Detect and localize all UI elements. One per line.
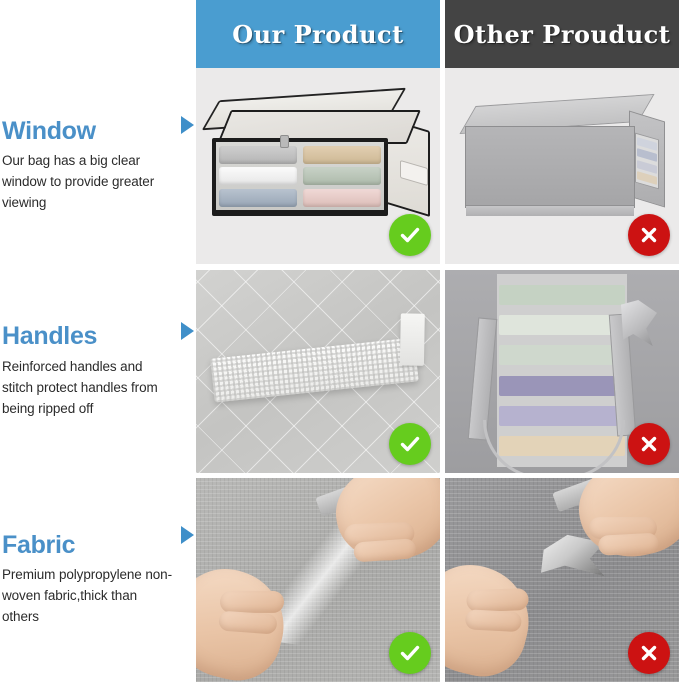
- product-comparison-infographic: Our Product Other Prouduct Window Our ba…: [0, 0, 679, 682]
- other-storage-bag: [465, 114, 661, 218]
- arrow-right-icon: [181, 116, 194, 134]
- towel-item: [219, 146, 297, 164]
- photo-our-product-handles: [196, 270, 440, 473]
- column-header-other-product: Other Prouduct: [445, 0, 679, 68]
- feature-title-window: Window: [2, 118, 188, 144]
- bag-front-panel: [465, 126, 635, 208]
- feature-title-fabric: Fabric: [2, 532, 188, 558]
- cross-badge-fabric: [628, 632, 670, 674]
- other-product-title: Other Prouduct: [454, 20, 671, 49]
- towel-stack-right: [300, 142, 384, 210]
- finger: [466, 588, 529, 612]
- feature-title-handles: Handles: [2, 323, 188, 349]
- arrow-right-icon: [181, 526, 194, 544]
- photo-our-product-fabric: [196, 478, 440, 682]
- feature-label-window: Window Our bag has a big clear window to…: [0, 68, 196, 264]
- towel-item: [499, 376, 625, 396]
- check-badge-window: [389, 214, 431, 256]
- towel-item: [637, 171, 657, 185]
- cross-badge-handles: [628, 423, 670, 465]
- finger: [218, 611, 277, 635]
- photo-other-product-handles: [445, 270, 679, 473]
- bag-bottom-seam: [466, 205, 634, 216]
- our-storage-bag: [212, 110, 422, 222]
- check-badge-handles: [389, 423, 431, 465]
- towel-item: [303, 167, 381, 185]
- photo-other-product-fabric: [445, 478, 679, 682]
- towel-stack-left: [216, 142, 300, 210]
- column-header-our-product: Our Product: [196, 0, 440, 68]
- feature-description-handles: Reinforced handles and stitch protect ha…: [2, 357, 174, 420]
- bag-small-window: [635, 133, 659, 190]
- towel-item: [303, 146, 381, 164]
- towel-item: [499, 345, 625, 365]
- cross-badge-window: [628, 214, 670, 256]
- finger: [465, 609, 522, 632]
- finger: [598, 533, 659, 556]
- bag-clear-window: [216, 142, 384, 210]
- feature-label-fabric: Fabric Premium polypropylene non-woven f…: [0, 478, 196, 682]
- check-badge-fabric: [389, 632, 431, 674]
- photo-other-product-window: [445, 68, 679, 264]
- towel-item: [303, 189, 381, 207]
- bag-front-panel: [212, 138, 388, 216]
- feature-description-window: Our bag has a big clear window to provid…: [2, 151, 174, 214]
- towel-item: [499, 285, 625, 305]
- finger: [220, 591, 284, 613]
- zipper-pull-icon: [280, 135, 289, 148]
- handle-loop: [483, 420, 625, 473]
- feature-description-fabric: Premium polypropylene non-woven fabric,t…: [2, 565, 174, 628]
- towel-item: [219, 167, 297, 185]
- arrow-right-icon: [181, 322, 194, 340]
- towel-item: [219, 189, 297, 207]
- our-product-title: Our Product: [232, 20, 403, 49]
- towel-item: [499, 315, 625, 335]
- photo-our-product-window: [196, 68, 440, 264]
- feature-label-handles: Handles Reinforced handles and stitch pr…: [0, 270, 196, 473]
